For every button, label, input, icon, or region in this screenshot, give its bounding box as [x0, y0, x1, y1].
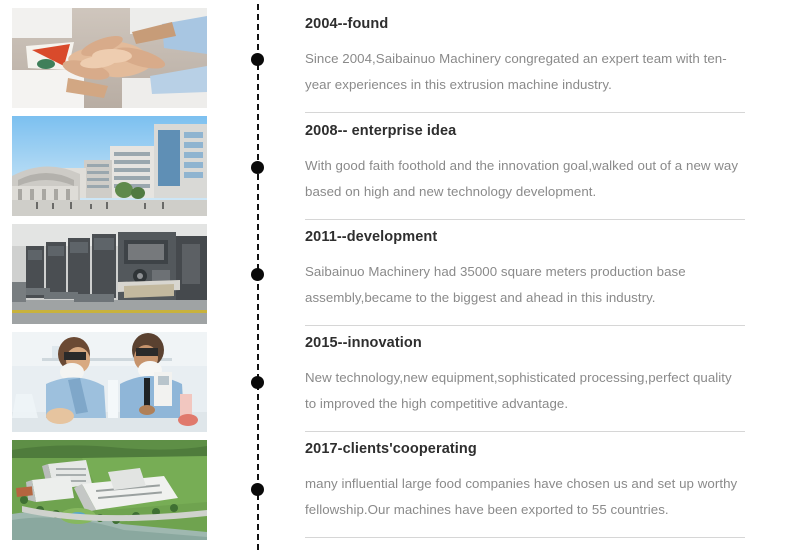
timeline-content-column: 2004--found Since 2004,Saibainuo Machine… — [305, 0, 760, 554]
timeline-photo-3[interactable] — [12, 224, 207, 324]
timeline-entry-4: 2015--innovation New technology,new equi… — [305, 335, 745, 417]
timeline-entry-4-description: New technology,new equipment,sophisticat… — [305, 365, 745, 417]
timeline-entry-2-year: 2008-- enterprise idea — [305, 123, 745, 140]
timeline-divider-4 — [305, 431, 745, 432]
timeline-entry-4-year: 2015--innovation — [305, 335, 745, 352]
timeline-axis-column — [220, 0, 300, 554]
timeline-dot-2[interactable] — [251, 161, 264, 174]
timeline-dot-3[interactable] — [251, 268, 264, 281]
timeline-photo-column — [0, 0, 220, 554]
timeline-dot-1[interactable] — [251, 53, 264, 66]
timeline-entry-3: 2011--development Saibainuo Machinery ha… — [305, 229, 745, 311]
company-history-timeline: 2004--found Since 2004,Saibainuo Machine… — [0, 0, 800, 554]
timeline-entry-2-description: With good faith foothold and the innovat… — [305, 153, 745, 205]
timeline-entry-3-description: Saibainuo Machinery had 35000 square met… — [305, 259, 745, 311]
timeline-divider-2 — [305, 219, 745, 220]
timeline-entry-1-description: Since 2004,Saibainuo Machinery congregat… — [305, 46, 745, 98]
timeline-divider-1 — [305, 112, 745, 113]
campus-buildings-image — [12, 116, 207, 216]
aerial-campus-image — [12, 440, 207, 540]
timeline-photo-4[interactable] — [12, 332, 207, 432]
timeline-dot-4[interactable] — [251, 376, 264, 389]
teamwork-hands-image — [12, 8, 207, 108]
timeline-photo-1[interactable] — [12, 8, 207, 108]
timeline-entry-1: 2004--found Since 2004,Saibainuo Machine… — [305, 16, 745, 98]
timeline-dot-5[interactable] — [251, 483, 264, 496]
timeline-entry-5-description: many influential large food companies ha… — [305, 471, 745, 523]
timeline-divider-3 — [305, 325, 745, 326]
timeline-divider-5 — [305, 537, 745, 538]
laboratory-image — [12, 332, 207, 432]
timeline-photo-2[interactable] — [12, 116, 207, 216]
timeline-entry-1-year: 2004--found — [305, 16, 745, 33]
timeline-photo-5[interactable] — [12, 440, 207, 540]
timeline-entry-5: 2017-clients'cooperating many influentia… — [305, 441, 745, 523]
timeline-entry-3-year: 2011--development — [305, 229, 745, 246]
timeline-entry-5-year: 2017-clients'cooperating — [305, 441, 745, 458]
industrial-machines-image — [12, 224, 207, 324]
timeline-entry-2: 2008-- enterprise idea With good faith f… — [305, 123, 745, 205]
